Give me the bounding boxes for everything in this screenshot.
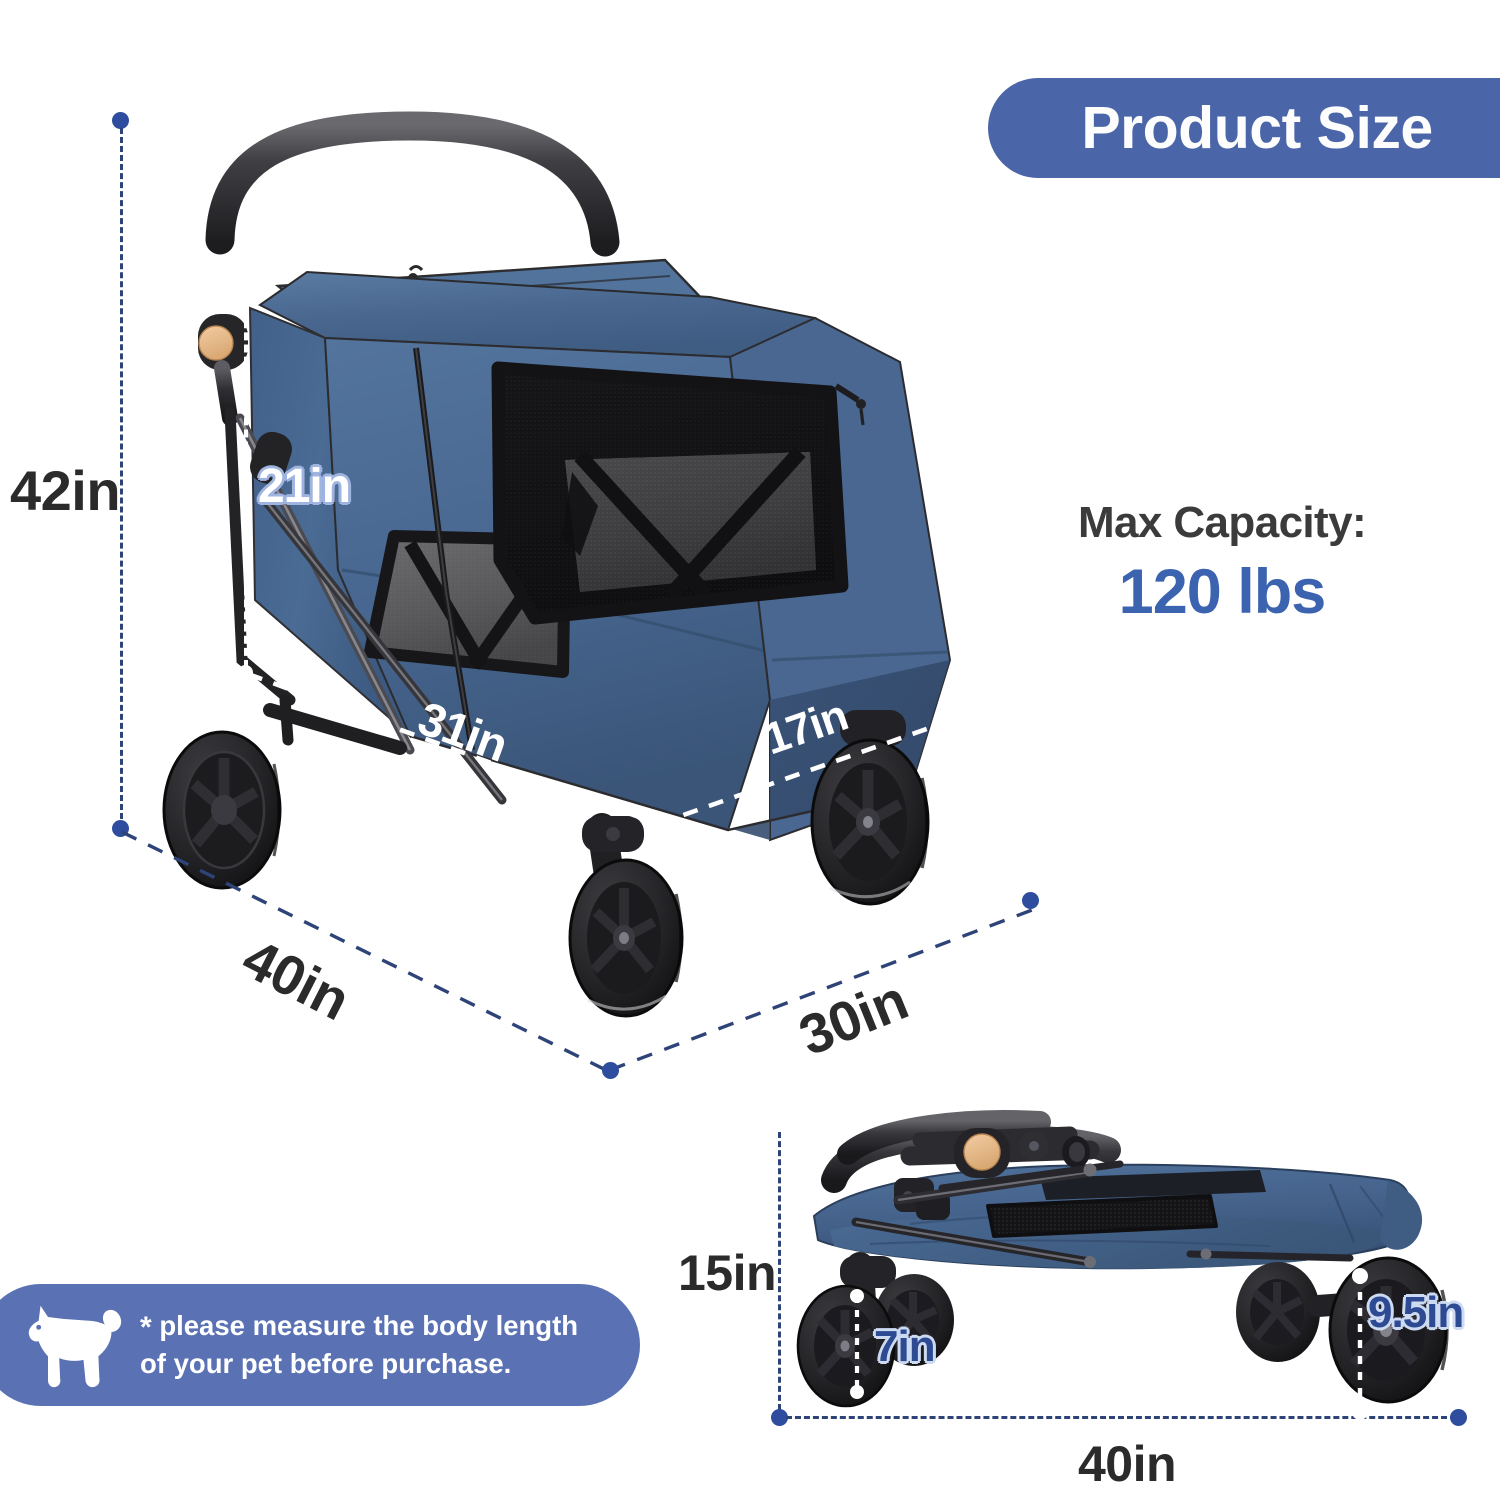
guide-15in-vertical [778,1132,781,1410]
guide-21in-vertical [244,296,248,668]
infographic-canvas: 42in 21in 31in 17in 40in 30in [0,0,1500,1500]
guide-42in-vertical [120,128,123,828]
dim-label-40in-folded: 40in [1078,1435,1176,1493]
guide-dot-right-corner [1022,892,1039,909]
product-size-title: Product Size [1055,94,1432,162]
guide-dot-17-end [946,712,961,727]
max-capacity-block: Max Capacity: 120 lbs [1022,498,1422,628]
asterisk-marker: * [140,1311,152,1344]
dim-label-21in: 21in [258,459,350,514]
dim-label-15in: 15in [678,1244,776,1302]
front-mesh-window [498,368,842,618]
pet-measure-note-banner: * please measure the body length of your… [0,1284,640,1406]
folded-pivot-hub [954,1128,1010,1178]
guide-7in-vertical [845,1290,869,1398]
dim-label-7in: 7in [874,1322,935,1372]
max-capacity-value: 120 lbs [1022,556,1422,628]
guide-dot-40-right [1450,1409,1467,1426]
pet-measure-note-text: * please measure the body length of your… [140,1309,578,1380]
dim-label-9-5in: 9.5in [1368,1288,1463,1338]
guide-dot-42-top [112,112,129,129]
note-line-1: please measure the body length [159,1310,578,1341]
dog-silhouette-icon [20,1297,132,1393]
guide-40in-diagonal [110,820,630,1090]
guide-dot-bottom-corner [602,1062,619,1079]
note-line-2: of your pet before purchase. [140,1348,511,1379]
max-capacity-label: Max Capacity: [1022,498,1422,548]
dim-label-42in: 42in [10,458,120,523]
product-size-banner: Product Size [988,78,1500,178]
